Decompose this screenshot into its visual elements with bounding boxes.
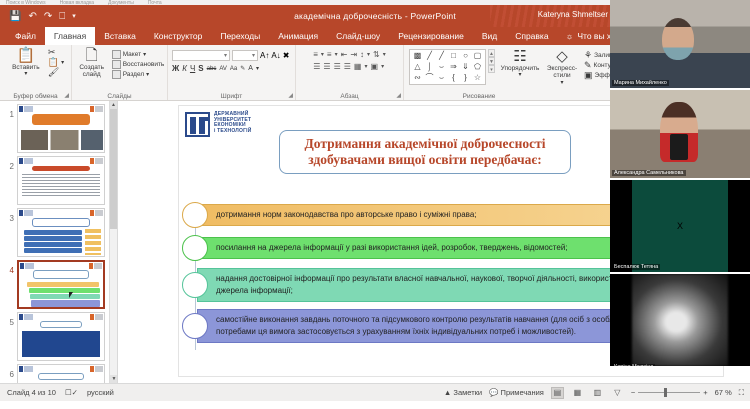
- thumbnail-preview[interactable]: [17, 156, 105, 205]
- paragraph-dialog-launcher[interactable]: ◢: [396, 92, 401, 99]
- participant-name-3: Беспалюк Тетяна: [612, 264, 660, 270]
- ribbon-group-slides: 🗋 Создать слайд Макет▾ Восстановить Разд…: [72, 45, 168, 100]
- comments-button[interactable]: 💬 Примечания: [489, 388, 544, 397]
- underline-button[interactable]: Ч: [190, 64, 195, 73]
- new-slide-label: Создать слайд: [75, 64, 109, 79]
- clear-formatting-icon[interactable]: ✖: [283, 51, 290, 60]
- arc-shape-icon[interactable]: ⌣: [436, 73, 447, 83]
- oval-shape-icon[interactable]: ○: [460, 51, 471, 61]
- shapes-gallery-scrollbar[interactable]: ▲ ▼ ▾: [487, 49, 495, 73]
- thumbnail-preview[interactable]: [17, 260, 105, 309]
- outline-pen-icon: ✎: [584, 61, 592, 70]
- paragraph-row-1: ≡▾ ≡▾ ⇤ ⇥ ↕▾ ⇅▾: [313, 50, 386, 59]
- scroll-down-icon[interactable]: ▼: [488, 57, 495, 65]
- thumbnail-preview[interactable]: [17, 364, 105, 383]
- bullet-circle: [182, 202, 208, 228]
- arrange-label: Упорядочить: [501, 65, 540, 72]
- thumbnail-preview[interactable]: [17, 208, 105, 257]
- line-arrow-shape-icon[interactable]: ╱: [436, 51, 447, 61]
- line-spacing-icon[interactable]: ↕: [360, 50, 364, 59]
- notes-button[interactable]: ▲ Заметки: [444, 388, 482, 397]
- elbow2-shape-icon[interactable]: ⌣: [436, 62, 447, 72]
- thumbnail-slide-4[interactable]: 4: [0, 257, 117, 309]
- thumbnail-slide-2[interactable]: 2: [0, 153, 117, 205]
- rectangle-shape-icon[interactable]: □: [448, 51, 459, 61]
- slide-sorter-view-button[interactable]: ▦: [571, 387, 584, 399]
- tab-transitions[interactable]: Переходы: [211, 27, 269, 45]
- university-logo: ДЕРЖАВНИЙ УНІВЕРСИТЕТ ЕКОНОМІКИ і ТЕХНОЛ…: [185, 112, 252, 137]
- tab-home[interactable]: Главная: [45, 27, 95, 45]
- quick-styles-label: Экспресс-стили: [545, 65, 579, 80]
- thumbnail-number: 4: [4, 260, 14, 275]
- cut-button[interactable]: ✂: [48, 48, 64, 57]
- participant-avatar-initial: X: [632, 180, 728, 272]
- change-case-button[interactable]: Aa: [230, 66, 237, 72]
- tab-review[interactable]: Рецензирование: [389, 27, 473, 45]
- document-title: академічна доброчесність: [294, 11, 402, 21]
- participant-tile-4[interactable]: Каріна Малаіна: [610, 274, 750, 366]
- paragraph-row-2: ☰ ☰ ☰ ☰ ▦▾ ▣▾: [313, 62, 384, 71]
- bold-button[interactable]: Ж: [172, 64, 179, 73]
- columns-icon[interactable]: ▦: [354, 62, 362, 71]
- layout-icon: [112, 50, 121, 59]
- thumbnail-number: 3: [4, 208, 14, 223]
- fit-to-window-icon[interactable]: ⛶: [739, 388, 744, 398]
- language-indicator[interactable]: русский: [87, 388, 114, 397]
- thumbnails-scrollbar[interactable]: ▲ ▼: [109, 101, 117, 383]
- thumbnail-slide-1[interactable]: 1: [0, 101, 117, 153]
- tab-slideshow[interactable]: Слайд-шоу: [327, 27, 389, 45]
- logo-line-3: і ТЕХНОЛОГІЙ: [214, 129, 252, 135]
- font-name-input[interactable]: ▾: [172, 50, 230, 61]
- participant-tile-1[interactable]: Марина Михайленко: [610, 0, 750, 88]
- font-dialog-launcher[interactable]: ◢: [288, 92, 293, 99]
- align-left-icon[interactable]: ☰: [313, 62, 320, 71]
- scrollbar-thumb[interactable]: [110, 109, 118, 229]
- zoom-slider[interactable]: − +: [631, 388, 708, 397]
- tab-view[interactable]: Вид: [473, 27, 506, 45]
- chevron-down-icon[interactable]: ▾: [256, 65, 259, 72]
- shapes-more-icon[interactable]: ▾: [488, 65, 495, 73]
- bullets-icon[interactable]: ≡: [313, 50, 318, 59]
- thumbnail-preview[interactable]: [17, 104, 105, 153]
- chevron-down-icon: ▾: [61, 59, 64, 66]
- rounded-rect-shape-icon[interactable]: ▢: [472, 51, 483, 61]
- thumbnail-number: 6: [4, 364, 14, 379]
- quick-styles-button[interactable]: ◇ Экспресс-стили ▾: [545, 49, 579, 87]
- arrow-down-shape-icon[interactable]: ⇓: [460, 62, 471, 72]
- arrange-button[interactable]: ☷ Упорядочить ▾: [500, 49, 540, 79]
- decrease-indent-icon[interactable]: ⇤: [341, 50, 348, 59]
- line-shape-icon[interactable]: ╱: [424, 51, 435, 61]
- paste-button[interactable]: 📋 Вставить ▾: [7, 48, 45, 78]
- align-right-icon[interactable]: ☰: [334, 62, 341, 71]
- university-logo-text: ДЕРЖАВНИЙ УНІВЕРСИТЕТ ЕКОНОМІКИ і ТЕХНОЛ…: [214, 112, 252, 134]
- textbox-shape-icon[interactable]: ▩: [412, 51, 423, 61]
- effects-icon: ▣: [584, 71, 593, 80]
- ribbon-group-font: ▾ ▾ A↑ A↓ ✖ Ж К Ч S abc AV Aa ✎ A ▾: [168, 45, 296, 100]
- clipboard-dialog-launcher[interactable]: ◢: [64, 92, 69, 99]
- section-label: Раздел: [123, 71, 144, 78]
- layout-button[interactable]: Макет▾: [112, 50, 165, 59]
- curve-shape-icon[interactable]: ⌒: [424, 73, 435, 83]
- participant-tile-3[interactable]: X Беспалюк Тетяна: [610, 180, 750, 272]
- copy-button[interactable]: 📋▾: [48, 58, 64, 67]
- tab-insert[interactable]: Вставка: [95, 27, 145, 45]
- group-label-drawing: Рисование: [404, 93, 554, 100]
- comments-label: Примечания: [501, 388, 544, 397]
- convert-smartart-icon[interactable]: ▣: [371, 62, 379, 71]
- quick-styles-icon: ◇: [556, 49, 568, 64]
- zoom-track[interactable]: [638, 392, 700, 393]
- right-brace-shape-icon[interactable]: }: [460, 73, 471, 83]
- customize-qat-icon[interactable]: ▾: [72, 12, 76, 20]
- section-button[interactable]: Раздел▾: [112, 70, 165, 79]
- new-slide-icon: 🗋: [86, 48, 98, 63]
- increase-font-size-icon[interactable]: A↑: [260, 51, 269, 60]
- video-participants-panel: Марина Михайленко Александра Самельников…: [610, 0, 750, 366]
- new-slide-button[interactable]: 🗋 Создать слайд: [75, 48, 109, 79]
- thumbnail-slide-5[interactable]: 5: [0, 309, 117, 361]
- ribbon-group-paragraph: ≡▾ ≡▾ ⇤ ⇥ ↕▾ ⇅▾ ☰ ☰ ☰ ☰ ▦▾ ▣▾ Абзац ◢: [296, 45, 404, 100]
- avatar-letter: X: [677, 221, 683, 231]
- participant-tile-2[interactable]: Александра Самельникова: [610, 90, 750, 178]
- zoom-in-button[interactable]: +: [703, 388, 707, 397]
- font-size-input[interactable]: ▾: [232, 50, 258, 61]
- section-icon: [112, 70, 121, 79]
- thumbnail-slide-3[interactable]: 3: [0, 205, 117, 257]
- scroll-up-icon[interactable]: ▲: [488, 49, 495, 57]
- lightbulb-icon: ☼: [566, 31, 574, 41]
- left-brace-shape-icon[interactable]: {: [448, 73, 459, 83]
- normal-view-button[interactable]: ▤: [551, 387, 564, 399]
- thumbnail-number: 1: [4, 104, 14, 119]
- elbow-shape-icon[interactable]: ⌡: [424, 62, 435, 72]
- italic-button[interactable]: К: [182, 64, 187, 73]
- increase-indent-icon[interactable]: ⇥: [350, 50, 357, 59]
- bullet-circle: [182, 235, 208, 261]
- notes-label: Заметки: [453, 388, 482, 397]
- app-name: PowerPoint: [410, 11, 455, 21]
- pentagon-shape-icon[interactable]: ⬠: [472, 62, 483, 72]
- thumbnail-slide-6[interactable]: 6: [0, 361, 117, 383]
- scroll-up-arrow-icon[interactable]: ▲: [110, 101, 117, 109]
- freeform-shape-icon[interactable]: ∾: [412, 73, 423, 83]
- zoom-handle[interactable]: [664, 388, 667, 397]
- justify-icon[interactable]: ☰: [344, 62, 351, 71]
- text-direction-icon[interactable]: ⇅: [373, 50, 380, 59]
- group-label-paragraph: Абзац: [296, 93, 403, 100]
- tab-file[interactable]: Файл: [6, 27, 45, 45]
- tab-animations[interactable]: Анимация: [269, 27, 327, 45]
- start-presentation-icon[interactable]: ⎕: [59, 11, 65, 22]
- university-logo-mark-icon: [185, 112, 210, 137]
- tab-design[interactable]: Конструктор: [145, 27, 211, 45]
- bullet-circle: [182, 313, 208, 339]
- decrease-font-size-icon[interactable]: A↓: [271, 51, 280, 60]
- bullet-circle: [182, 272, 208, 298]
- slideshow-view-button[interactable]: ▽: [611, 387, 624, 399]
- reading-view-button[interactable]: ▥: [591, 387, 604, 399]
- slide-counter[interactable]: Слайд 4 из 10: [7, 388, 56, 397]
- font-color-button[interactable]: A: [248, 65, 253, 72]
- text-shadow-button[interactable]: S: [198, 64, 203, 73]
- reset-icon: [112, 60, 121, 69]
- star-shape-icon[interactable]: ☆: [472, 73, 483, 83]
- strikethrough-button[interactable]: abc: [207, 66, 217, 72]
- character-spacing-button[interactable]: AV: [219, 66, 227, 72]
- scroll-down-arrow-icon[interactable]: ▼: [110, 375, 118, 383]
- paintbrush-icon: 🖌: [48, 68, 59, 77]
- title-separator: -: [405, 11, 408, 21]
- triangle-shape-icon[interactable]: △: [412, 62, 423, 72]
- thumbnail-number: 5: [4, 312, 14, 327]
- thumbnail-preview[interactable]: [17, 312, 105, 361]
- numbering-icon[interactable]: ≡: [327, 50, 332, 59]
- arrow-right-shape-icon[interactable]: ⇒: [448, 62, 459, 72]
- arrange-icon: ☷: [513, 49, 526, 64]
- group-label-slides: Слайды: [72, 93, 167, 100]
- account-name[interactable]: Kateryna Shmeltser: [538, 10, 608, 19]
- thumbnail-number: 2: [4, 156, 14, 171]
- clipboard-icon: 📋: [17, 48, 36, 63]
- group-label-clipboard: Буфер обмена: [0, 93, 71, 100]
- participant-video-feed: [632, 274, 728, 366]
- zoom-out-button[interactable]: −: [631, 388, 635, 397]
- mouse-cursor: [69, 292, 76, 298]
- status-bar: Слайд 4 из 10 ☐✓ русский ▲ Заметки 💬 При…: [0, 383, 750, 401]
- reset-button[interactable]: Восстановить: [112, 60, 165, 69]
- accessibility-icon[interactable]: ☐✓: [65, 388, 78, 397]
- participant-name-1: Марина Михайленко: [612, 80, 669, 86]
- align-center-icon[interactable]: ☰: [323, 62, 330, 71]
- format-painter-button[interactable]: 🖌: [48, 68, 64, 77]
- slide-title[interactable]: Дотримання академічної доброчесності здо…: [279, 130, 571, 174]
- slide-thumbnails-pane[interactable]: 1 2 3: [0, 101, 118, 383]
- text-highlight-icon[interactable]: ✎: [240, 65, 245, 72]
- layout-label: Макет: [123, 51, 141, 58]
- participant-name-2: Александра Самельникова: [612, 170, 686, 176]
- copy-icon: 📋: [48, 58, 59, 67]
- participant-name-4: Каріна Малаіна: [612, 364, 655, 366]
- fill-bucket-icon: ⚘: [584, 51, 592, 60]
- paste-label: Вставить: [12, 64, 40, 71]
- ribbon-group-clipboard: 📋 Вставить ▾ ✂ 📋▾ 🖌 Буфер обмена ◢: [0, 45, 72, 100]
- redo-icon[interactable]: ↷: [44, 11, 52, 22]
- save-icon[interactable]: 💾: [9, 11, 21, 22]
- shapes-gallery[interactable]: ▩ ╱ ╱ □ ○ ▢ △ ⌡ ⌣ ⇒ ⇓ ⬠ ∾ ⌒ ⌣: [409, 49, 486, 85]
- zoom-level[interactable]: 67 %: [715, 388, 732, 397]
- reset-label: Восстановить: [123, 61, 165, 68]
- chevron-down-icon: ▾: [24, 71, 27, 78]
- undo-icon[interactable]: ↶: [28, 11, 36, 22]
- tab-help[interactable]: Справка: [506, 27, 557, 45]
- quick-access-toolbar: 💾 ↶ ↷ ⎕ ▾: [0, 11, 76, 22]
- scissors-icon: ✂: [48, 48, 56, 57]
- group-label-font: Шрифт: [168, 93, 295, 100]
